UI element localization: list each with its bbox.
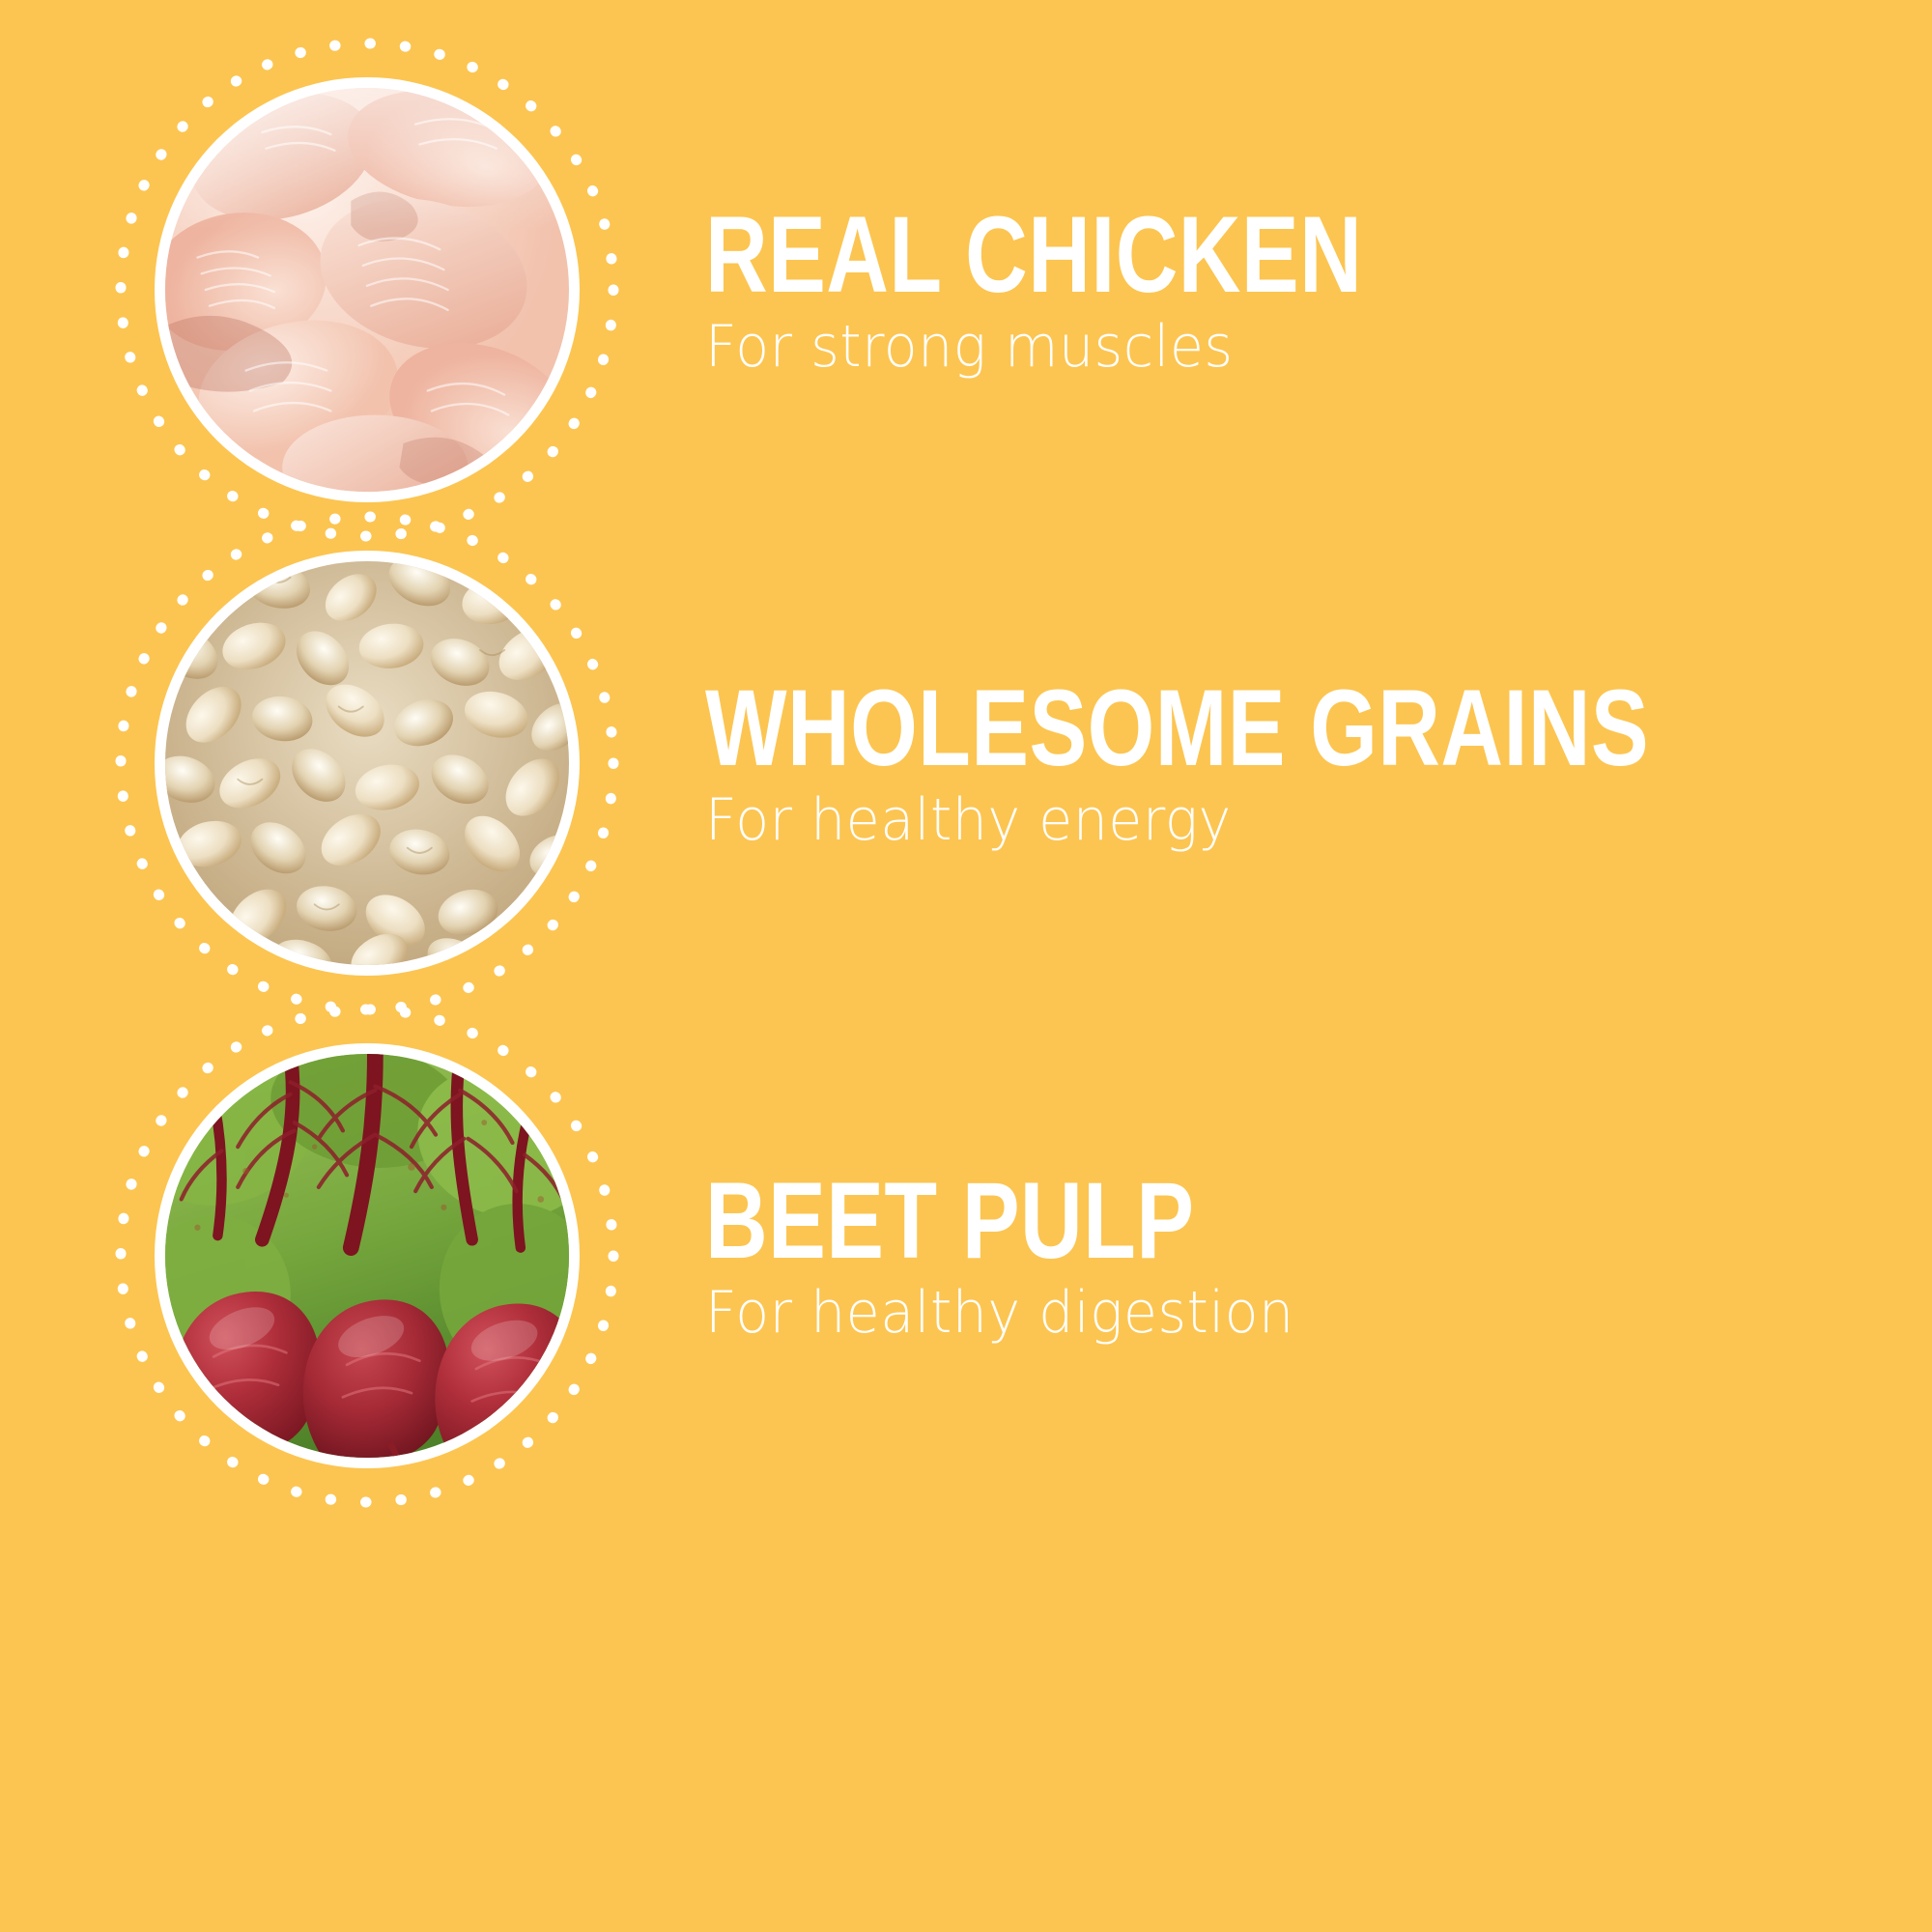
- ingredient-text-beet-pulp: BEET PULP For healthy digestion: [705, 1167, 1325, 1345]
- ingredient-callout-panel: REAL CHICKEN For strong muscles: [0, 0, 1932, 1932]
- chicken-photo: [165, 88, 569, 492]
- photo-frame-beet-pulp: [155, 1043, 580, 1468]
- ingredient-medallion-chicken: [106, 29, 628, 551]
- photo-frame-chicken: [155, 77, 580, 502]
- ingredient-title: REAL CHICKEN: [705, 201, 1362, 309]
- beet-photo: [165, 1054, 569, 1458]
- ingredient-text-chicken: REAL CHICKEN For strong muscles: [705, 201, 1526, 379]
- photo-frame-grains: [155, 551, 580, 976]
- ingredient-medallion-grains: [106, 502, 628, 1024]
- ingredient-title: WHOLESOME GRAINS: [705, 674, 1649, 782]
- ingredient-subtitle: For healthy energy: [705, 788, 1826, 852]
- grains-photo: [165, 561, 569, 965]
- ingredient-text-grains: WHOLESOME GRAINS For healthy energy: [705, 674, 1885, 852]
- ingredient-medallion-beet-pulp: [106, 995, 628, 1517]
- ingredient-row-beet-pulp: BEET PULP For healthy digestion: [0, 966, 1932, 1546]
- ingredient-subtitle: For strong muscles: [705, 315, 1486, 379]
- ingredient-title: BEET PULP: [705, 1167, 1201, 1275]
- ingredient-subtitle: For healthy digestion: [705, 1281, 1294, 1345]
